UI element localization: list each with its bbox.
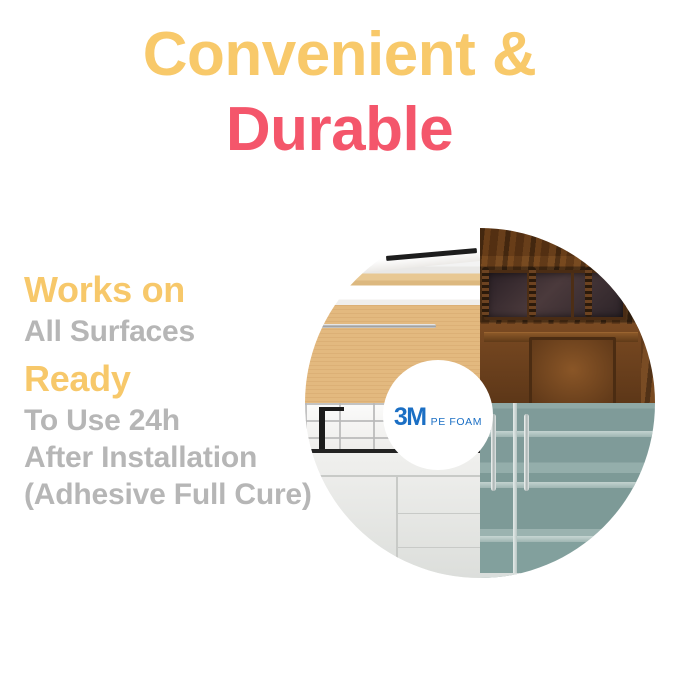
headline-line-2: Durable — [0, 101, 679, 160]
cabinet-door-panel — [529, 337, 616, 404]
product-name-label: PE FOAM — [431, 417, 482, 428]
glass-shelf — [480, 536, 655, 542]
cabinet-frame-bottom — [480, 573, 655, 578]
chrome-bar-handle — [321, 324, 437, 328]
white-drawer-stack — [305, 453, 480, 578]
drawer-seam — [305, 475, 480, 477]
drawer-seam — [396, 513, 480, 515]
brand-badge: 3M PE FOAM — [383, 360, 493, 470]
glass-shelf — [480, 482, 655, 488]
turned-column — [529, 267, 536, 318]
headline-line-1: Convenient & — [0, 26, 679, 85]
feature-adhesive-full-cure: (Adhesive Full Cure) — [24, 480, 344, 510]
turned-column — [585, 267, 592, 318]
glass-shelf — [480, 431, 655, 437]
mullion — [571, 273, 574, 317]
black-faucet — [319, 407, 325, 453]
turned-column — [482, 267, 489, 318]
glass-cabinet-doors — [484, 270, 627, 320]
collage-quadrant-teal-frosted-glass-cabinet — [480, 403, 655, 578]
feature-to-use-24h: To Use 24h — [24, 406, 344, 436]
chrome-handle — [524, 414, 529, 491]
brand-badge-content: 3M PE FOAM — [394, 405, 482, 430]
cabinet-divider — [513, 403, 517, 578]
feature-list: Works on All Surfaces Ready To Use 24h A… — [24, 272, 344, 510]
feature-works-on: Works on — [24, 272, 344, 308]
feature-after-installation: After Installation — [24, 443, 344, 473]
collage-quadrant-dark-antique-wood-cabinet — [480, 228, 655, 403]
headline-block: Convenient & Durable — [0, 26, 679, 160]
faucet-arm — [319, 407, 344, 412]
drawer-seam — [396, 547, 480, 549]
drawer-seam-vertical — [396, 475, 398, 578]
promo-graphic: Convenient & Durable Works on All Surfac… — [0, 0, 679, 679]
3m-logo: 3M — [394, 405, 426, 430]
feature-ready: Ready — [24, 361, 344, 397]
feature-all-surfaces: All Surfaces — [24, 317, 344, 347]
